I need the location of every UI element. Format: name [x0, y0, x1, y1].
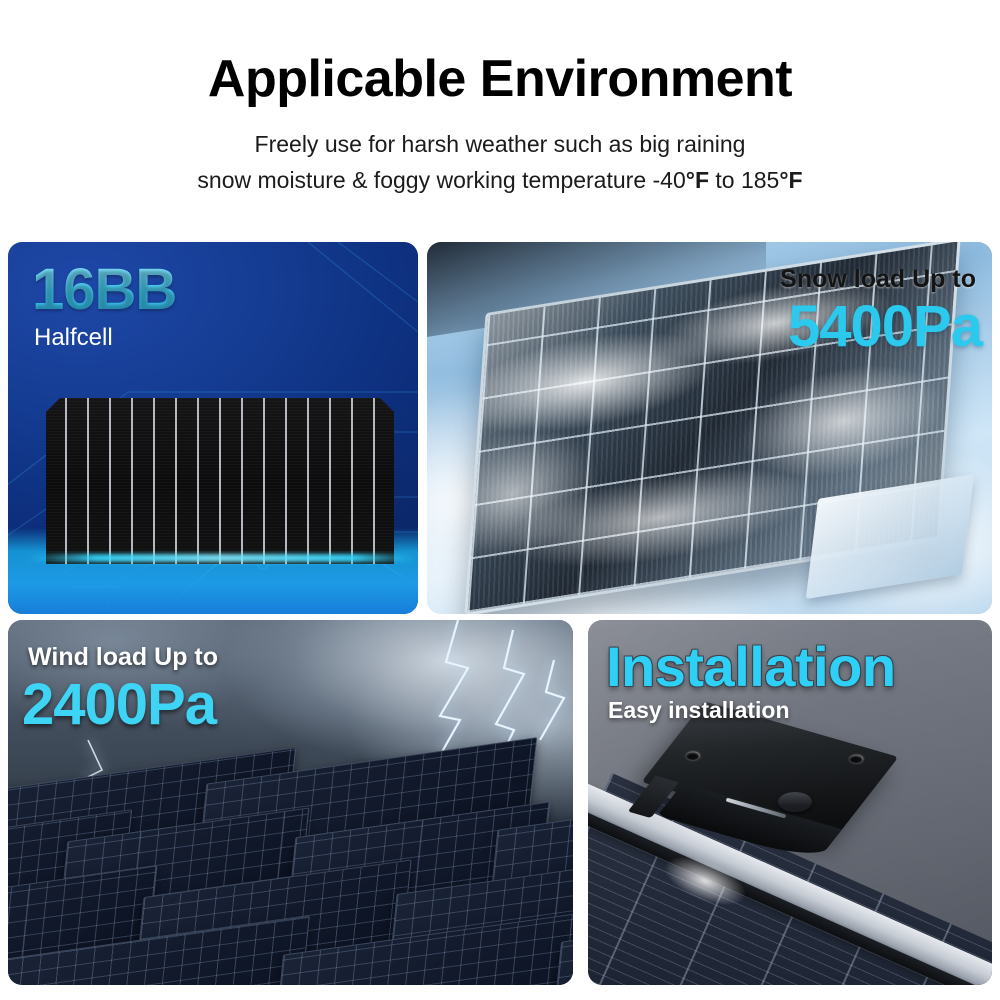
wind-load-value: 2400Pa: [22, 672, 216, 738]
page-title: Applicable Environment: [0, 48, 1000, 110]
degree-unit-high: °F: [779, 167, 802, 193]
subtitle-line-2-text-a: snow moisture & foggy working temperatur…: [197, 167, 685, 193]
page-subtitle: Freely use for harsh weather such as big…: [0, 126, 1000, 198]
cell-busbars: [46, 398, 394, 564]
panel-installation[interactable]: Installation Easy installation: [588, 620, 992, 985]
busbar-subline: Halfcell: [34, 324, 113, 352]
degree-unit-low: °F: [686, 167, 709, 193]
panel-wind-load[interactable]: Wind load Up to 2400Pa: [8, 620, 573, 985]
subtitle-line-2: snow moisture & foggy working temperatur…: [0, 162, 1000, 198]
subtitle-line-1: Freely use for harsh weather such as big…: [0, 126, 1000, 162]
installation-subline: Easy installation: [608, 696, 790, 724]
panel-snow-load[interactable]: Snow load Up to 5400Pa: [427, 242, 992, 614]
solar-cell-image: [46, 398, 394, 564]
bracket-bolt-hole-1: [684, 751, 702, 762]
snow-load-value: 5400Pa: [788, 294, 982, 360]
wind-load-caption: Wind load Up to: [28, 642, 218, 672]
subtitle-line-2-text-b: to 185: [709, 167, 779, 193]
panel-busbar[interactable]: 16BB Halfcell: [8, 242, 418, 614]
installation-headline: Installation: [606, 636, 896, 698]
header: Applicable Environment Freely use for ha…: [0, 0, 1000, 230]
snow-load-caption: Snow load Up to: [780, 264, 976, 294]
cell-underglow: [26, 554, 418, 562]
bracket-bolt-head: [778, 792, 812, 812]
busbar-headline: 16BB: [32, 261, 176, 319]
infographic-page: Applicable Environment Freely use for ha…: [0, 0, 1000, 1000]
bracket-bolt-hole-2: [846, 754, 864, 765]
solar-array-rows: [8, 766, 573, 985]
